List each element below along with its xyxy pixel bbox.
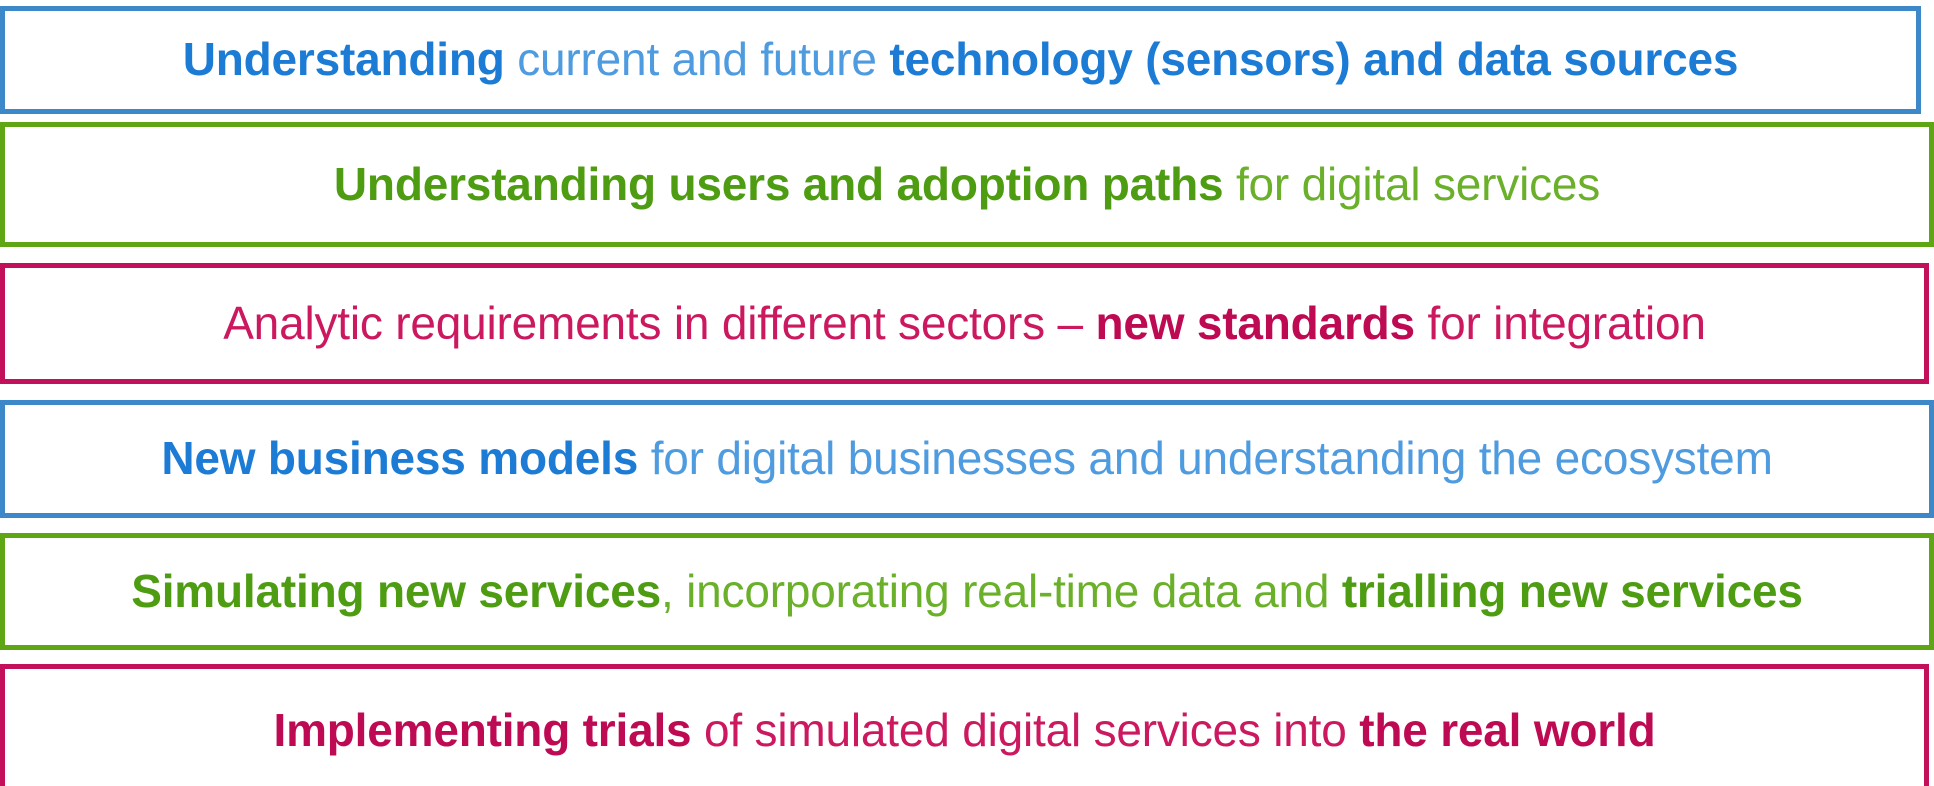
band-text-1: Understanding current and future technol… <box>169 34 1753 86</box>
band-row-6[interactable]: Implementing trials of simulated digital… <box>0 664 1929 786</box>
band-text-4: New business models for digital business… <box>147 433 1786 485</box>
text-segment-3: the real world <box>1359 704 1655 756</box>
text-segment-3: trialling new services <box>1342 565 1803 617</box>
text-segment-2: of simulated digital services into <box>691 704 1359 756</box>
band-row-5[interactable]: Simulating new services, incorporating r… <box>0 533 1934 650</box>
band-row-4[interactable]: New business models for digital business… <box>0 400 1934 518</box>
text-segment-1: Understanding <box>183 33 505 85</box>
text-segment-1: Understanding users and adoption paths <box>334 158 1223 210</box>
text-segment-2: for digital services <box>1223 158 1600 210</box>
text-segment-1: Analytic requirements in different secto… <box>223 297 1095 349</box>
band-stack: Understanding current and future technol… <box>0 0 1934 786</box>
text-segment-3: technology (sensors) and data sources <box>889 33 1738 85</box>
text-segment-1: New business models <box>161 432 638 484</box>
text-segment-3: for integration <box>1415 297 1706 349</box>
text-segment-2: current and future <box>505 33 890 85</box>
text-segment-2: new standards <box>1095 297 1415 349</box>
text-segment-1: Simulating new services <box>131 565 661 617</box>
band-row-2[interactable]: Understanding users and adoption paths f… <box>0 122 1934 247</box>
band-text-6: Implementing trials of simulated digital… <box>259 705 1669 757</box>
band-row-3[interactable]: Analytic requirements in different secto… <box>0 263 1929 384</box>
band-row-1[interactable]: Understanding current and future technol… <box>0 6 1921 114</box>
text-segment-2: for digital businesses and understanding… <box>638 432 1773 484</box>
band-text-2: Understanding users and adoption paths f… <box>320 159 1614 211</box>
band-text-5: Simulating new services, incorporating r… <box>117 566 1817 618</box>
band-text-3: Analytic requirements in different secto… <box>209 298 1720 350</box>
text-segment-2: , incorporating real-time data and <box>661 565 1342 617</box>
text-segment-1: Implementing trials <box>273 704 691 756</box>
